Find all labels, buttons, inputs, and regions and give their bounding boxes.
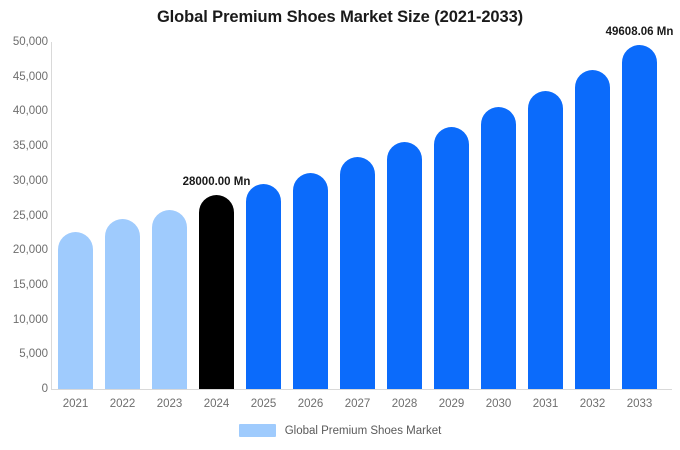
legend-label-global-premium-shoes-market: Global Premium Shoes Market xyxy=(285,425,442,437)
x-axis-tick-label-2027: 2027 xyxy=(345,398,371,410)
x-axis-tick-label-2030: 2030 xyxy=(486,398,512,410)
bar-2021[interactable] xyxy=(58,232,93,389)
x-axis-tick-label-2033: 2033 xyxy=(627,398,653,410)
bar-2022[interactable] xyxy=(105,219,140,389)
bar-value-label-2024: 28000.00 Mn xyxy=(183,176,251,188)
bar-2032[interactable] xyxy=(575,70,610,389)
x-axis-tick-label-2021: 2021 xyxy=(63,398,89,410)
chart-container: Global Premium Shoes Market Size (2021-2… xyxy=(0,0,680,450)
bar-2031[interactable] xyxy=(528,91,563,389)
bar-2025[interactable] xyxy=(246,184,281,389)
bar-2028[interactable] xyxy=(387,142,422,389)
bar-value-label-2033: 49608.06 Mn xyxy=(606,26,674,38)
bar-2026[interactable] xyxy=(293,173,328,389)
x-axis-tick-label-2025: 2025 xyxy=(251,398,277,410)
x-axis-tick-label-2031: 2031 xyxy=(533,398,559,410)
bar-2024[interactable] xyxy=(199,195,234,389)
x-axis-tick-label-2028: 2028 xyxy=(392,398,418,410)
bar-2030[interactable] xyxy=(481,107,516,389)
bar-2023[interactable] xyxy=(152,210,187,389)
bar-2027[interactable] xyxy=(340,157,375,389)
bar-2029[interactable] xyxy=(434,127,469,389)
x-axis-tick-label-2022: 2022 xyxy=(110,398,136,410)
x-axis-tick-label-2024: 2024 xyxy=(204,398,230,410)
x-axis-tick-label-2023: 2023 xyxy=(157,398,183,410)
bar-2033[interactable] xyxy=(622,45,657,389)
legend-swatch-global-premium-shoes-market xyxy=(239,424,276,437)
x-axis-tick-label-2029: 2029 xyxy=(439,398,465,410)
chart-legend: Global Premium Shoes Market xyxy=(0,424,680,437)
bars-layer xyxy=(0,0,680,450)
x-axis-tick-label-2026: 2026 xyxy=(298,398,324,410)
x-axis-tick-label-2032: 2032 xyxy=(580,398,606,410)
